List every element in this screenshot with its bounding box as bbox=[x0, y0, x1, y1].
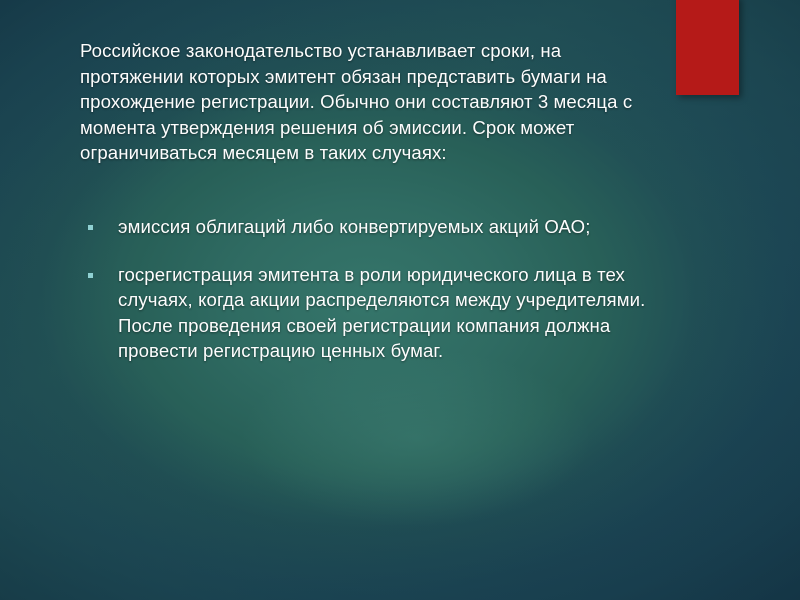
presentation-slide: Российское законодательство устанавливае… bbox=[0, 0, 800, 600]
red-accent-rectangle bbox=[676, 0, 739, 95]
square-bullet-icon bbox=[88, 225, 93, 230]
list-item-text: эмиссия облигаций либо конвертируемых ак… bbox=[118, 214, 610, 240]
list-item: эмиссия облигаций либо конвертируемых ак… bbox=[80, 214, 672, 240]
slide-content: Российское законодательство устанавливае… bbox=[80, 38, 672, 364]
bullet-list: эмиссия облигаций либо конвертируемых ак… bbox=[80, 214, 672, 364]
body-paragraph: Российское законодательство устанавливае… bbox=[80, 38, 650, 166]
list-item-text: госрегистрация эмитента в роли юридическ… bbox=[118, 262, 674, 364]
list-item: госрегистрация эмитента в роли юридическ… bbox=[80, 262, 672, 364]
square-bullet-icon bbox=[88, 273, 93, 278]
